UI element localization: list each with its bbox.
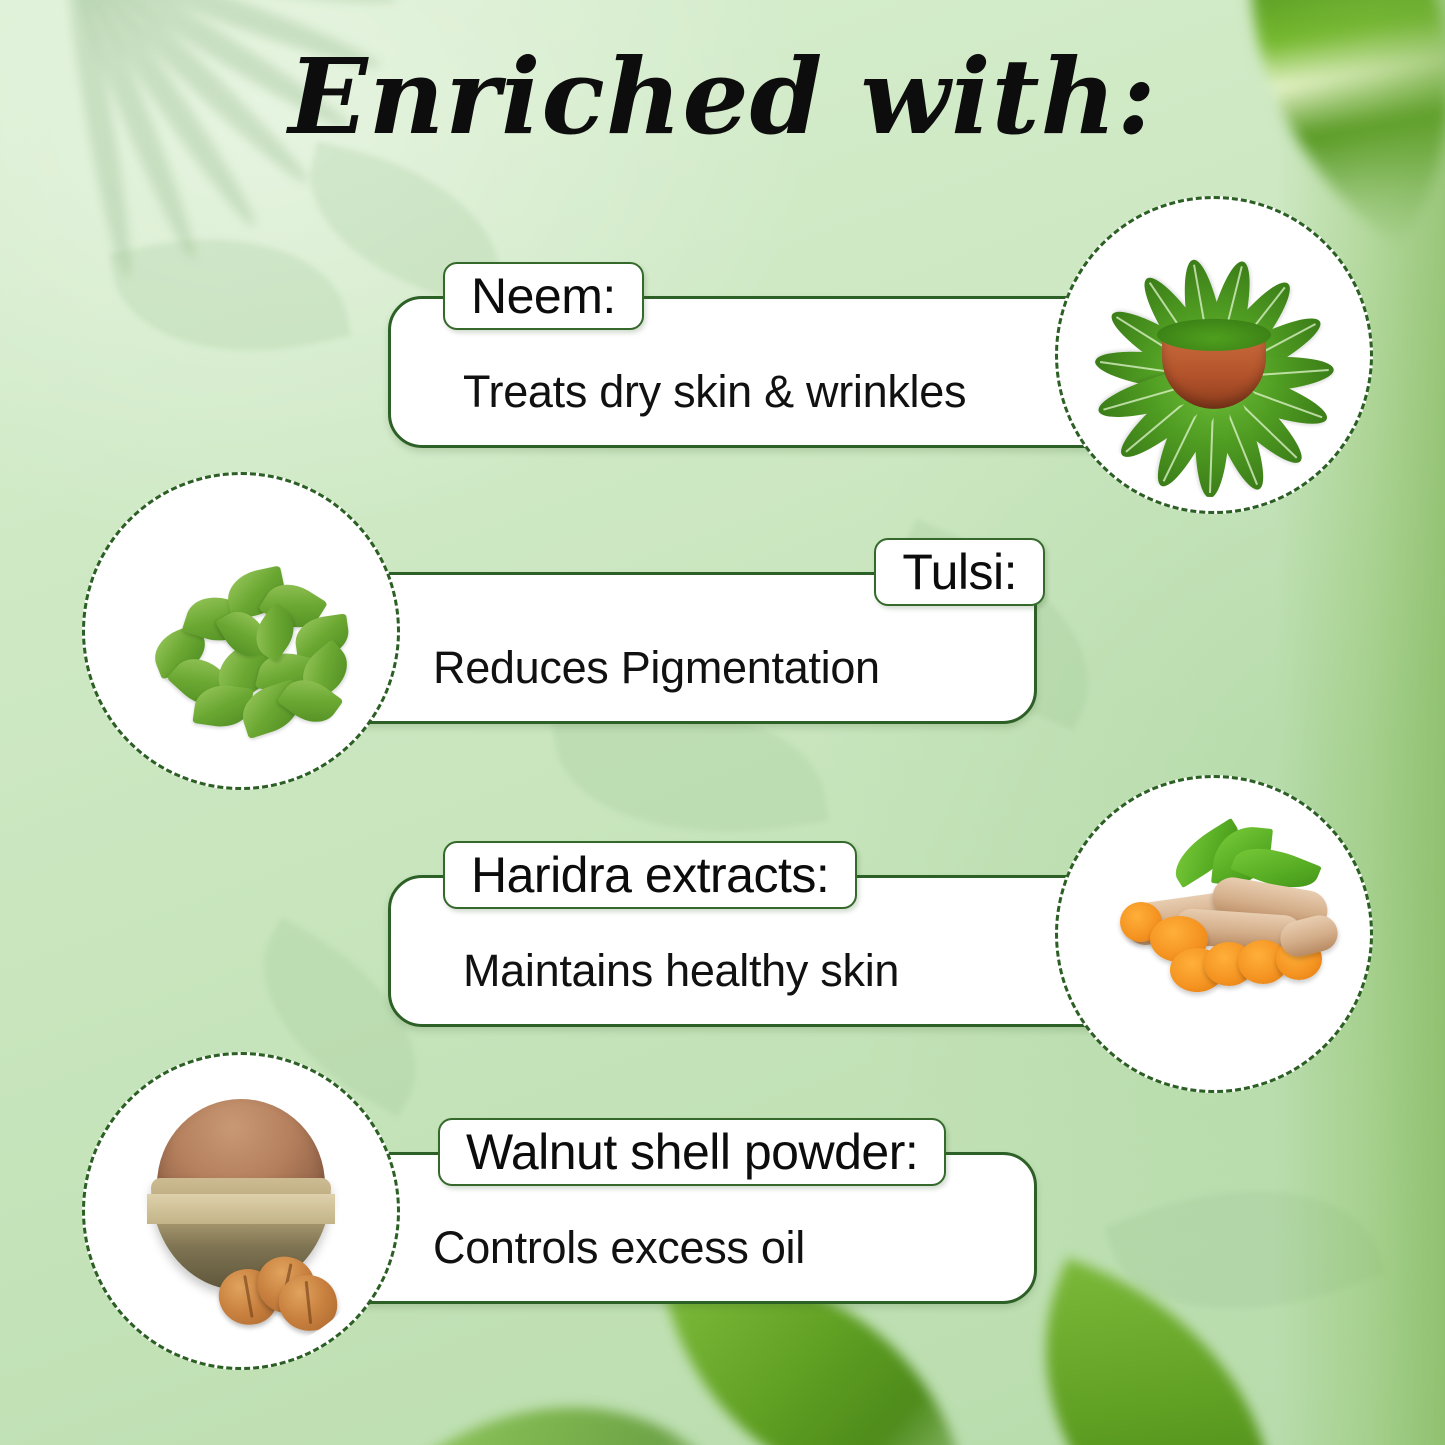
ingredient-row-tulsi: Reduces Pigmentation Tulsi: [0,472,1445,802]
ingredient-name: Tulsi: [902,547,1017,597]
ingredient-description: Controls excess oil [433,1222,994,1274]
ingredient-image-bubble-walnut [82,1052,400,1370]
ingredient-row-walnut: Controls excess oil Walnut shell powder: [0,1052,1445,1382]
turmeric-root-slices-photo [1072,792,1356,1076]
ingredient-image-bubble-neem [1055,196,1373,514]
tulsi-leaves-pile-photo [99,489,383,773]
page-title: Enriched with: [0,42,1445,151]
ingredient-image-bubble-tulsi [82,472,400,790]
ingredient-label-neem: Neem: [443,262,644,330]
ingredient-name: Walnut shell powder: [466,1127,918,1177]
ingredient-name: Haridra extracts: [471,850,829,900]
ingredient-name: Neem: [471,271,616,321]
ingredient-label-walnut: Walnut shell powder: [438,1118,946,1186]
walnut-shell-powder-bowl-photo [99,1069,383,1353]
ingredient-label-haridra: Haridra extracts: [443,841,857,909]
ingredient-label-tulsi: Tulsi: [874,538,1045,606]
ingredient-description: Reduces Pigmentation [433,642,994,694]
ingredient-image-bubble-haridra [1055,775,1373,1093]
neem-leaves-and-powder-bowl-photo [1072,213,1356,497]
